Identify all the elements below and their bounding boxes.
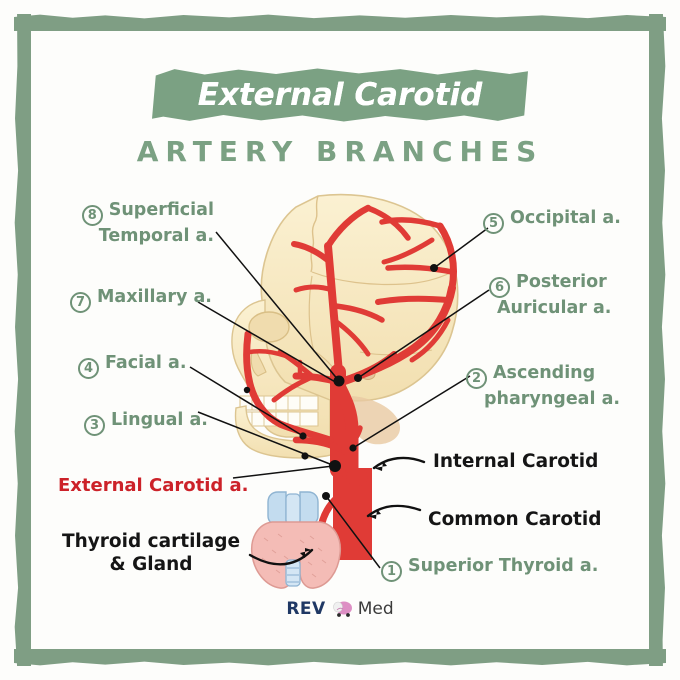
label-occipital[interactable]: 5Occipital a.: [483, 208, 621, 234]
brain-icon: [329, 599, 355, 619]
thyroid-label-line2: & Gland: [60, 553, 242, 576]
badge-7: 7: [70, 292, 91, 313]
label-internal-carotid[interactable]: Internal Carotid: [433, 450, 598, 473]
dot-ascending-pharyngeal: [349, 444, 356, 451]
label-text: Lingual a.: [111, 410, 208, 431]
thyroid-label-line1: Thyroid cartilage: [60, 530, 242, 553]
dot-external-carotid: [329, 460, 341, 472]
thyroid-cartilage-left: [268, 492, 286, 525]
cricoid-cartilage: [286, 494, 300, 524]
dot-maxillary: [244, 387, 250, 393]
dot-occipital: [430, 264, 438, 272]
arrow-common-carotid: [368, 506, 420, 516]
badge-3: 3: [84, 415, 105, 436]
label-text: Occipital a.: [510, 208, 621, 229]
label-ascending-pharyngeal[interactable]: 2Ascending pharyngeal a.: [466, 363, 620, 410]
label-text-line1: Posterior: [516, 272, 607, 293]
badge-5: 5: [483, 213, 504, 234]
badge-1: 1: [381, 561, 402, 582]
badge-4: 4: [78, 358, 99, 379]
logo-rev-text: REV: [286, 599, 325, 619]
carotid-bulb: [346, 468, 368, 486]
dot-posterior-auricular: [354, 374, 362, 382]
dot-superior-thyroid: [322, 492, 330, 500]
label-text: Maxillary a.: [97, 287, 212, 308]
dot-lingual: [301, 452, 308, 459]
badge-2: 2: [466, 368, 487, 389]
label-posterior-auricular[interactable]: 6Posterior Auricular a.: [489, 272, 611, 319]
dot-bifurcation: [334, 376, 345, 387]
logo-med-text: Med: [358, 599, 394, 619]
label-lingual[interactable]: 3Lingual a.: [84, 410, 208, 436]
thyroid-cartilage-right: [300, 492, 318, 525]
label-text-line1: Ascending: [493, 363, 595, 384]
label-superficial-temporal[interactable]: 8Superficial Temporal a.: [62, 200, 214, 247]
revmed-logo[interactable]: REV Med: [262, 596, 418, 622]
label-text-line1: Superficial: [109, 200, 214, 221]
badge-8: 8: [82, 205, 103, 226]
label-superior-thyroid[interactable]: 1Superior Thyroid a.: [381, 556, 598, 582]
occipital-branch-a: [378, 299, 448, 302]
label-text-line2: pharyngeal a.: [466, 389, 620, 410]
badge-6: 6: [489, 277, 510, 298]
label-common-carotid[interactable]: Common Carotid: [428, 508, 601, 531]
label-text-line2: Auricular a.: [489, 298, 611, 319]
label-thyroid-cartilage-gland[interactable]: Thyroid cartilage & Gland: [60, 530, 242, 576]
dot-facial: [299, 432, 306, 439]
infographic-poster: External Carotid ARTERY BRANCHES: [0, 0, 680, 680]
label-text-line2: Temporal a.: [62, 226, 214, 247]
label-text: Superior Thyroid a.: [408, 556, 598, 577]
label-facial[interactable]: 4Facial a.: [78, 353, 186, 379]
arrow-internal-carotid: [374, 458, 424, 468]
orbit: [249, 312, 289, 342]
label-external-carotid[interactable]: External Carotid a.: [58, 475, 249, 496]
label-text: Facial a.: [105, 353, 186, 374]
label-maxillary[interactable]: 7Maxillary a.: [70, 287, 212, 313]
